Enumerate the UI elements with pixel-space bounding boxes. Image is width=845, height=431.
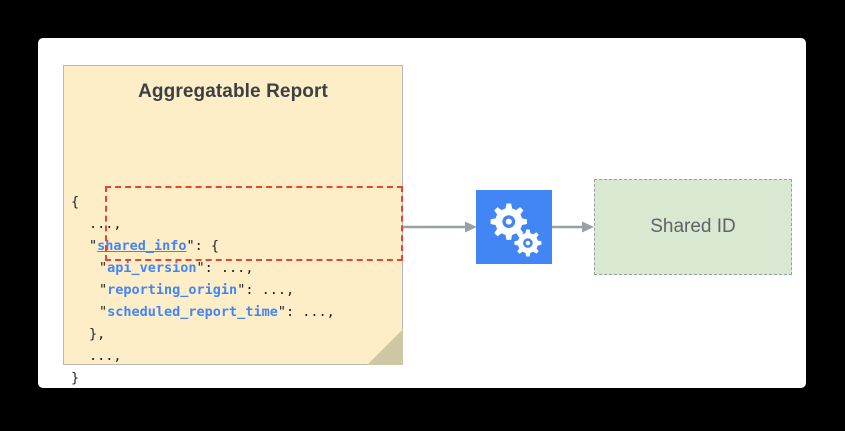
code-punctuation: {	[71, 194, 79, 210]
code-line: ...,	[71, 213, 395, 235]
json-key-api-version: api_version	[107, 260, 196, 276]
code-punctuation: },	[89, 326, 105, 342]
aggregatable-report-document: Aggregatable Report {...,"shared_info": …	[63, 65, 403, 365]
diagram-canvas: Aggregatable Report {...,"shared_info": …	[0, 0, 845, 431]
code-line: }	[71, 367, 395, 389]
code-line: "scheduled_report_time": ...,	[71, 301, 395, 323]
arrow-report-to-processor	[403, 220, 479, 234]
code-punctuation: ": ...,	[197, 260, 254, 276]
code-punctuation: "	[99, 304, 107, 320]
json-key-scheduled-report-time: scheduled_report_time	[107, 304, 278, 320]
code-line: },	[71, 323, 395, 345]
arrow-processor-to-shared-id	[552, 220, 596, 234]
code-punctuation: }	[71, 370, 79, 386]
code-line: "reporting_origin": ...,	[71, 279, 395, 301]
code-punctuation: "	[89, 238, 97, 254]
code-line: {	[71, 191, 395, 213]
shared-id-label: Shared ID	[650, 216, 736, 238]
document-title: Aggregatable Report	[63, 81, 403, 103]
diagram-card: Aggregatable Report {...,"shared_info": …	[38, 38, 806, 388]
code-punctuation: "	[99, 260, 107, 276]
processor-gears-icon	[476, 190, 552, 264]
shared-id-output-box: Shared ID	[594, 179, 792, 275]
json-code-block: {...,"shared_info": {"api_version": ...,…	[71, 125, 395, 389]
code-line: ...,	[71, 345, 395, 367]
code-punctuation: ...,	[89, 216, 122, 232]
json-key-reporting-origin: reporting_origin	[107, 282, 237, 298]
code-punctuation: ": ...,	[278, 304, 335, 320]
code-line: "api_version": ...,	[71, 257, 395, 279]
code-punctuation: "	[99, 282, 107, 298]
json-key-shared-info[interactable]: shared_info	[97, 238, 186, 254]
code-line: "shared_info": {	[71, 235, 395, 257]
code-punctuation: ": {	[187, 238, 220, 254]
code-punctuation: ": ...,	[237, 282, 294, 298]
code-punctuation: ...,	[89, 348, 122, 364]
